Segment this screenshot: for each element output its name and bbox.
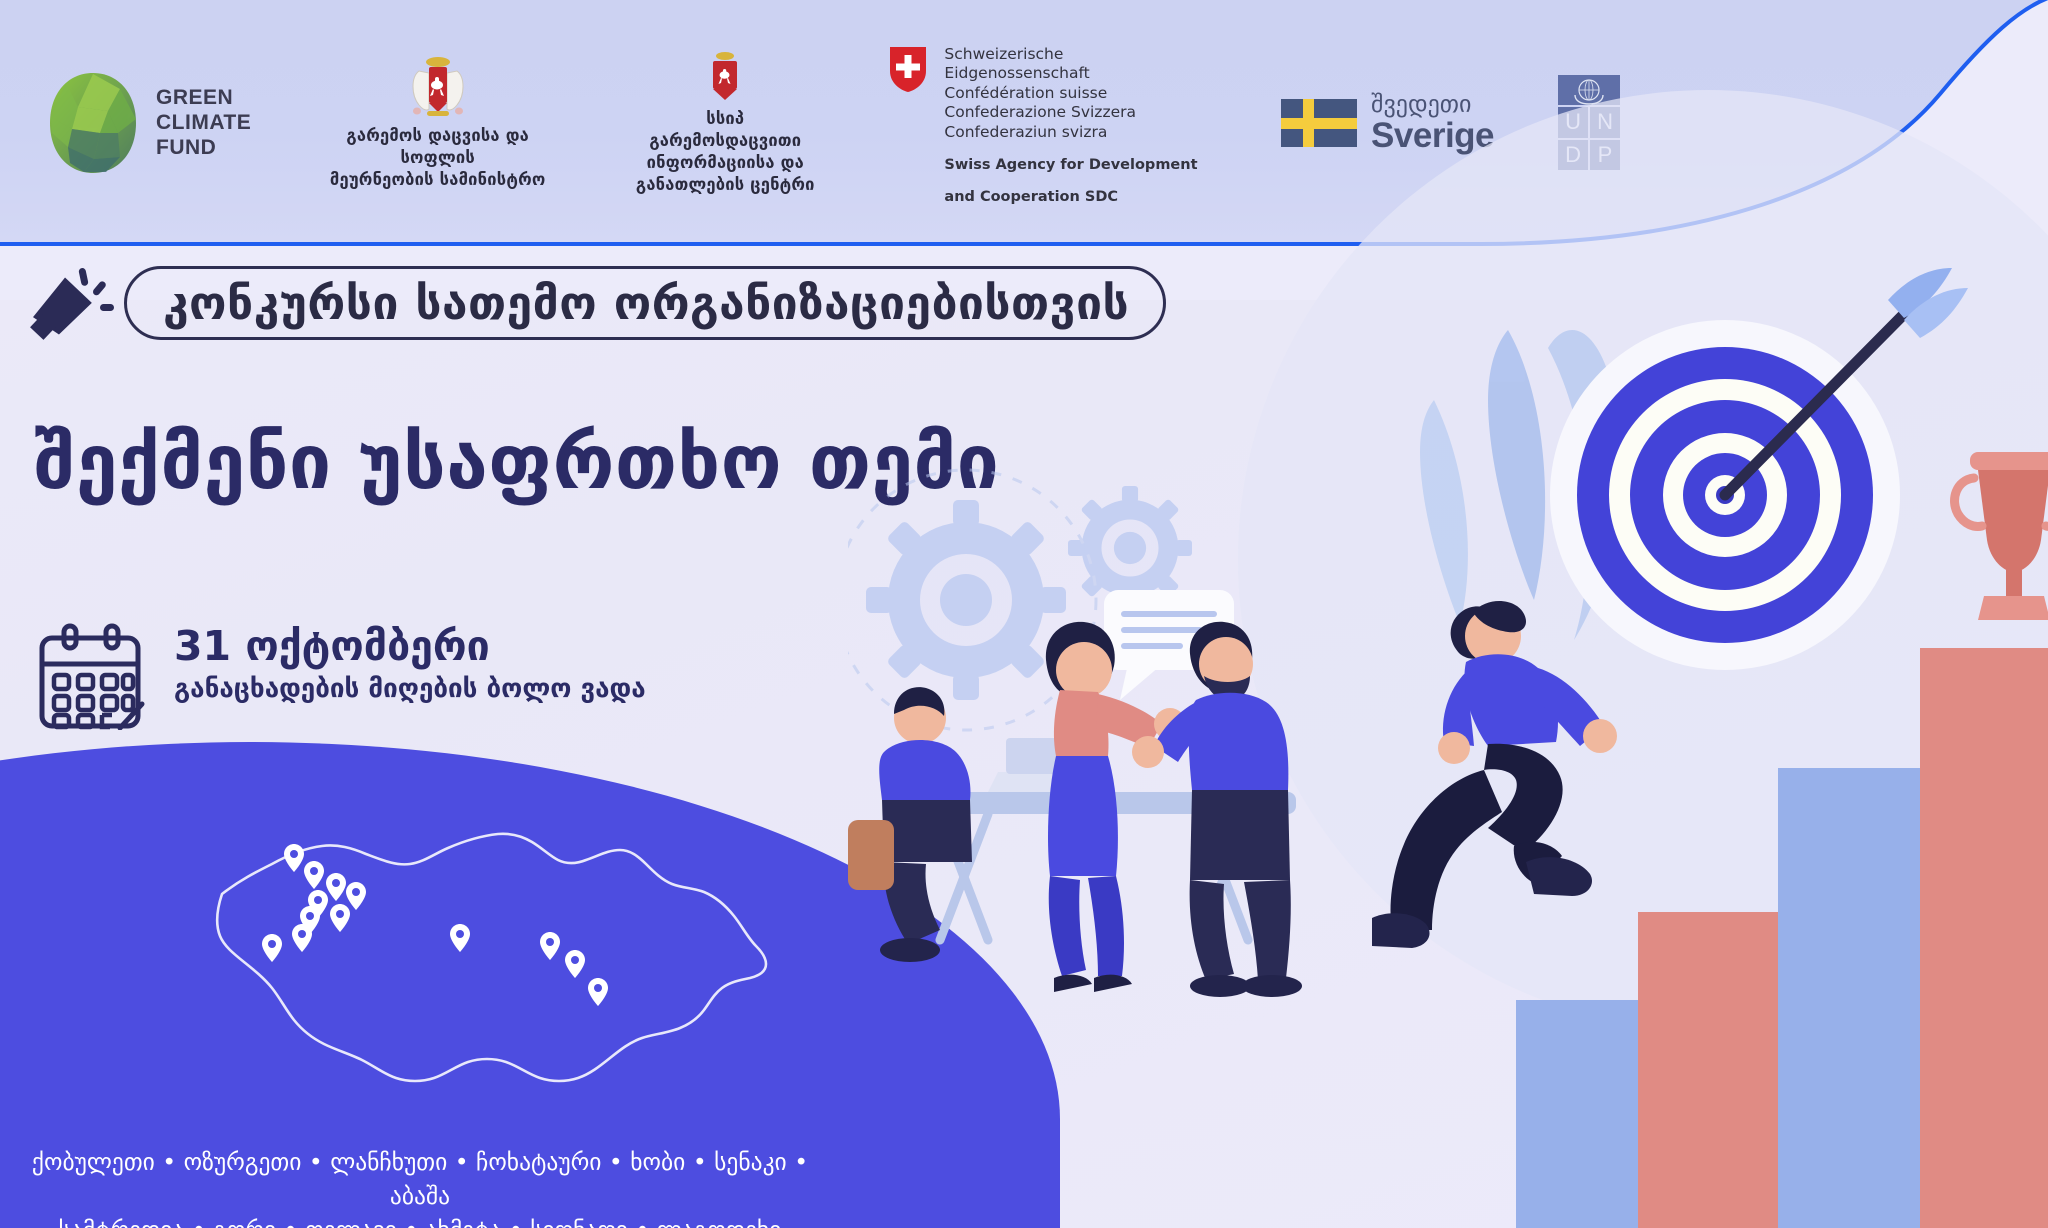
gcf-gem-icon [48, 71, 138, 175]
nea-line-3: განათლების ცენტრი [628, 174, 822, 196]
georgia-coat-of-arms-icon [405, 55, 471, 119]
poster-canvas: GREEN CLIMATE FUND [0, 0, 2048, 1228]
gcf-line-3: FUND [156, 135, 251, 160]
municipality-line-2: სამტრედია • გორი • თელავი • ახმეტა • სიღ… [0, 1213, 840, 1228]
bar-step-2 [1638, 912, 1794, 1228]
gcf-wordmark: GREEN CLIMATE FUND [156, 85, 251, 160]
municipality-list: ქობულეთი • ოზურგეთი • ლანჩხუთი • ჩოხატაუ… [0, 1145, 840, 1228]
bar-step-4 [1920, 648, 2048, 1228]
megaphone-icon [22, 262, 130, 344]
person-left [848, 687, 972, 962]
deadline-caption: განაცხადების მიღების ბოლო ვადა [174, 672, 646, 706]
nea-line-1: სსიპ გარემოსდაცვითი [628, 108, 822, 152]
logo-ministry-of-environment: გარემოს დაცვისა და სოფლის მეურნეობის სამ… [307, 55, 568, 191]
deadline-block: 31 ოქტომბერი განაცხადების მიღების ბოლო ვ… [34, 612, 646, 730]
calendar-icon [34, 622, 146, 730]
hero-illustration [848, 0, 2048, 1228]
ministry-line-1: გარემოს დაცვისა და სოფლის [307, 125, 568, 169]
georgia-map [210, 820, 770, 1150]
logo-green-climate-fund: GREEN CLIMATE FUND [48, 71, 251, 175]
gcf-line-1: GREEN [156, 85, 251, 110]
deadline-date: 31 ოქტომბერი [174, 622, 646, 670]
map-pin-group [262, 844, 608, 1006]
gcf-line-2: CLIMATE [156, 110, 251, 135]
nea-line-2: ინფორმაციისა და [628, 152, 822, 174]
nea-wordmark: სსიპ გარემოსდაცვითი ინფორმაციისა და განა… [628, 108, 822, 196]
logo-environmental-info-centre: სსიპ გარემოსდაცვითი ინფორმაციისა და განა… [628, 50, 822, 196]
georgia-small-shield-icon [708, 50, 742, 102]
ministry-line-2: მეურნეობის სამინისტრო [307, 169, 568, 191]
team-meeting [848, 622, 1302, 997]
bar-step-3 [1778, 768, 1938, 1228]
ministry-wordmark: გარემოს დაცვისა და სოფლის მეურნეობის სამ… [307, 125, 568, 191]
municipality-line-1: ქობულეთი • ოზურგეთი • ლანჩხუთი • ჩოხატაუ… [0, 1145, 840, 1213]
